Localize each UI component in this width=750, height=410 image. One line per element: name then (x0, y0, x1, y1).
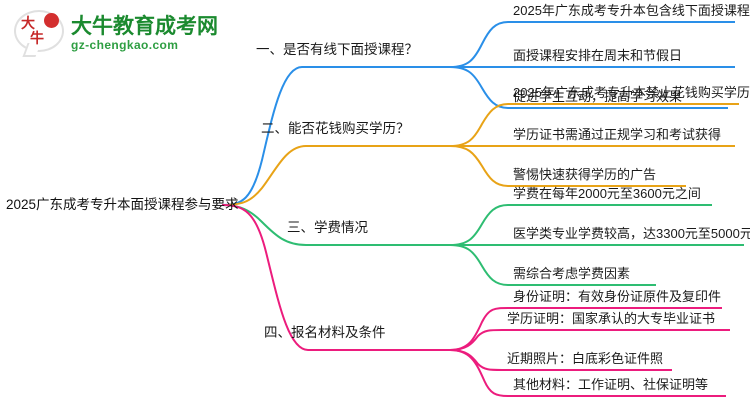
leaf-label-2-3[interactable]: 警惕快速获得学历的广告 (513, 167, 656, 183)
logo-mark-char-2: 牛 (30, 32, 59, 46)
leaf-label-1-1[interactable]: 2025年广东成考专升本包含线下面授课程 (513, 3, 750, 19)
branch-4-leaf-2-connector (450, 330, 730, 350)
logo-mark-text: 大 牛 (21, 17, 59, 47)
root-node-label[interactable]: 2025广东成考专升本面授课程参与要求 (6, 197, 239, 213)
leaf-label-2-1[interactable]: 2025年广东成考专升本禁止花钱购买学历 (513, 85, 750, 101)
leaf-label-1-2[interactable]: 面授课程安排在周末和节假日 (513, 48, 682, 64)
leaf-label-4-2[interactable]: 学历证明：国家承认的大专毕业证书 (507, 311, 715, 327)
leaf-label-3-2[interactable]: 医学类专业学费较高，达3300元至5000元 (513, 226, 750, 242)
mindmap-canvas: 大 牛 大牛教育成考网 gz-chengkao.com (0, 0, 750, 410)
logo-mark-char-1: 大 (21, 17, 59, 31)
logo-url: gz-chengkao.com (71, 38, 218, 52)
leaf-label-2-2[interactable]: 学历证书需通过正规学习和考试获得 (513, 127, 721, 143)
branch-label-2[interactable]: 二、能否花钱购买学历？ (261, 121, 410, 137)
logo-text-block: 大牛教育成考网 gz-chengkao.com (71, 15, 218, 52)
logo-mark-icon: 大 牛 (14, 10, 64, 57)
branch-label-3[interactable]: 三、学费情况 (287, 220, 368, 236)
leaf-label-3-1[interactable]: 学费在每年2000元至3600元之间 (513, 186, 701, 202)
branch-label-4[interactable]: 四、报名材料及条件 (264, 325, 386, 341)
leaf-label-4-4[interactable]: 其他材料：工作证明、社保证明等 (513, 377, 708, 393)
root-stem-branch-2 (222, 146, 450, 205)
leaf-label-4-1[interactable]: 身份证明：有效身份证原件及复印件 (513, 289, 721, 305)
leaf-label-4-3[interactable]: 近期照片：白底彩色证件照 (507, 351, 663, 367)
site-logo: 大 牛 大牛教育成考网 gz-chengkao.com (14, 10, 218, 57)
leaf-label-3-3[interactable]: 需综合考虑学费因素 (513, 266, 630, 282)
branch-label-1[interactable]: 一、是否有线下面授课程？ (256, 42, 418, 58)
logo-title: 大牛教育成考网 (71, 15, 218, 38)
